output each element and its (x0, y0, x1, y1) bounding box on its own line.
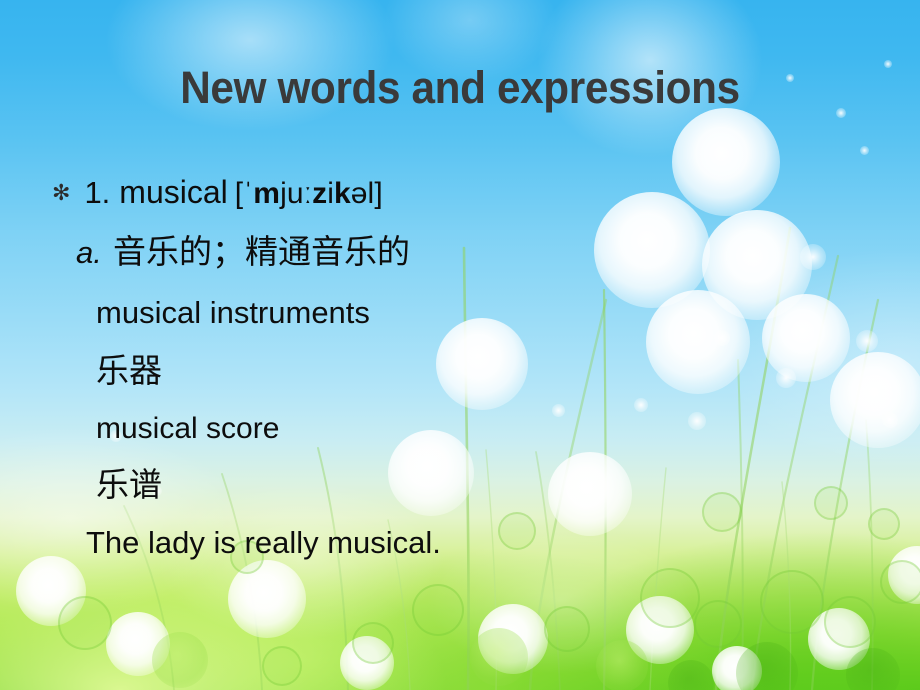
phonetic-close-bracket: ] (374, 177, 382, 210)
collocation-2-chinese: 乐谱 (96, 468, 162, 501)
entry-number: 1. (84, 177, 110, 208)
phonetic-z: z (312, 177, 327, 210)
page-title: New words and expressions (28, 62, 893, 114)
phonetic-k: k (334, 177, 351, 210)
part-of-speech: a. (76, 235, 102, 270)
collocation-1-chinese: 乐器 (96, 354, 162, 387)
phonetic-stress-mark: ˈ (243, 177, 253, 210)
entry-definition-line: a. 音乐的；精通音乐的 (76, 235, 410, 268)
phonetic-open-bracket: [ (235, 177, 243, 210)
phonetic-m: m (253, 177, 280, 210)
entry-headword-line: ✻ 1. musical [ˈmjuːzikəl] (52, 176, 383, 209)
example-sentence: The lady is really musical. (86, 527, 441, 558)
slide-content: New words and expressions ✻ 1. musical [… (0, 0, 920, 690)
phonetic-schwa: ə (351, 177, 368, 210)
collocation-1-english: musical instruments (96, 297, 370, 328)
phonetic-ju: ju (280, 177, 304, 210)
collocation-2-english: musical score (96, 414, 279, 444)
entry-phonetic: [ˈmjuːzikəl] (235, 179, 383, 209)
presentation-slide: New words and expressions ✻ 1. musical [… (0, 0, 920, 690)
phonetic-length-mark: ː (304, 177, 312, 210)
asterisk-bullet-icon: ✻ (52, 182, 70, 204)
definition-chinese: 音乐的；精通音乐的 (113, 232, 410, 271)
entry-headword: musical (119, 176, 227, 208)
phonetic-i: i (327, 177, 334, 210)
